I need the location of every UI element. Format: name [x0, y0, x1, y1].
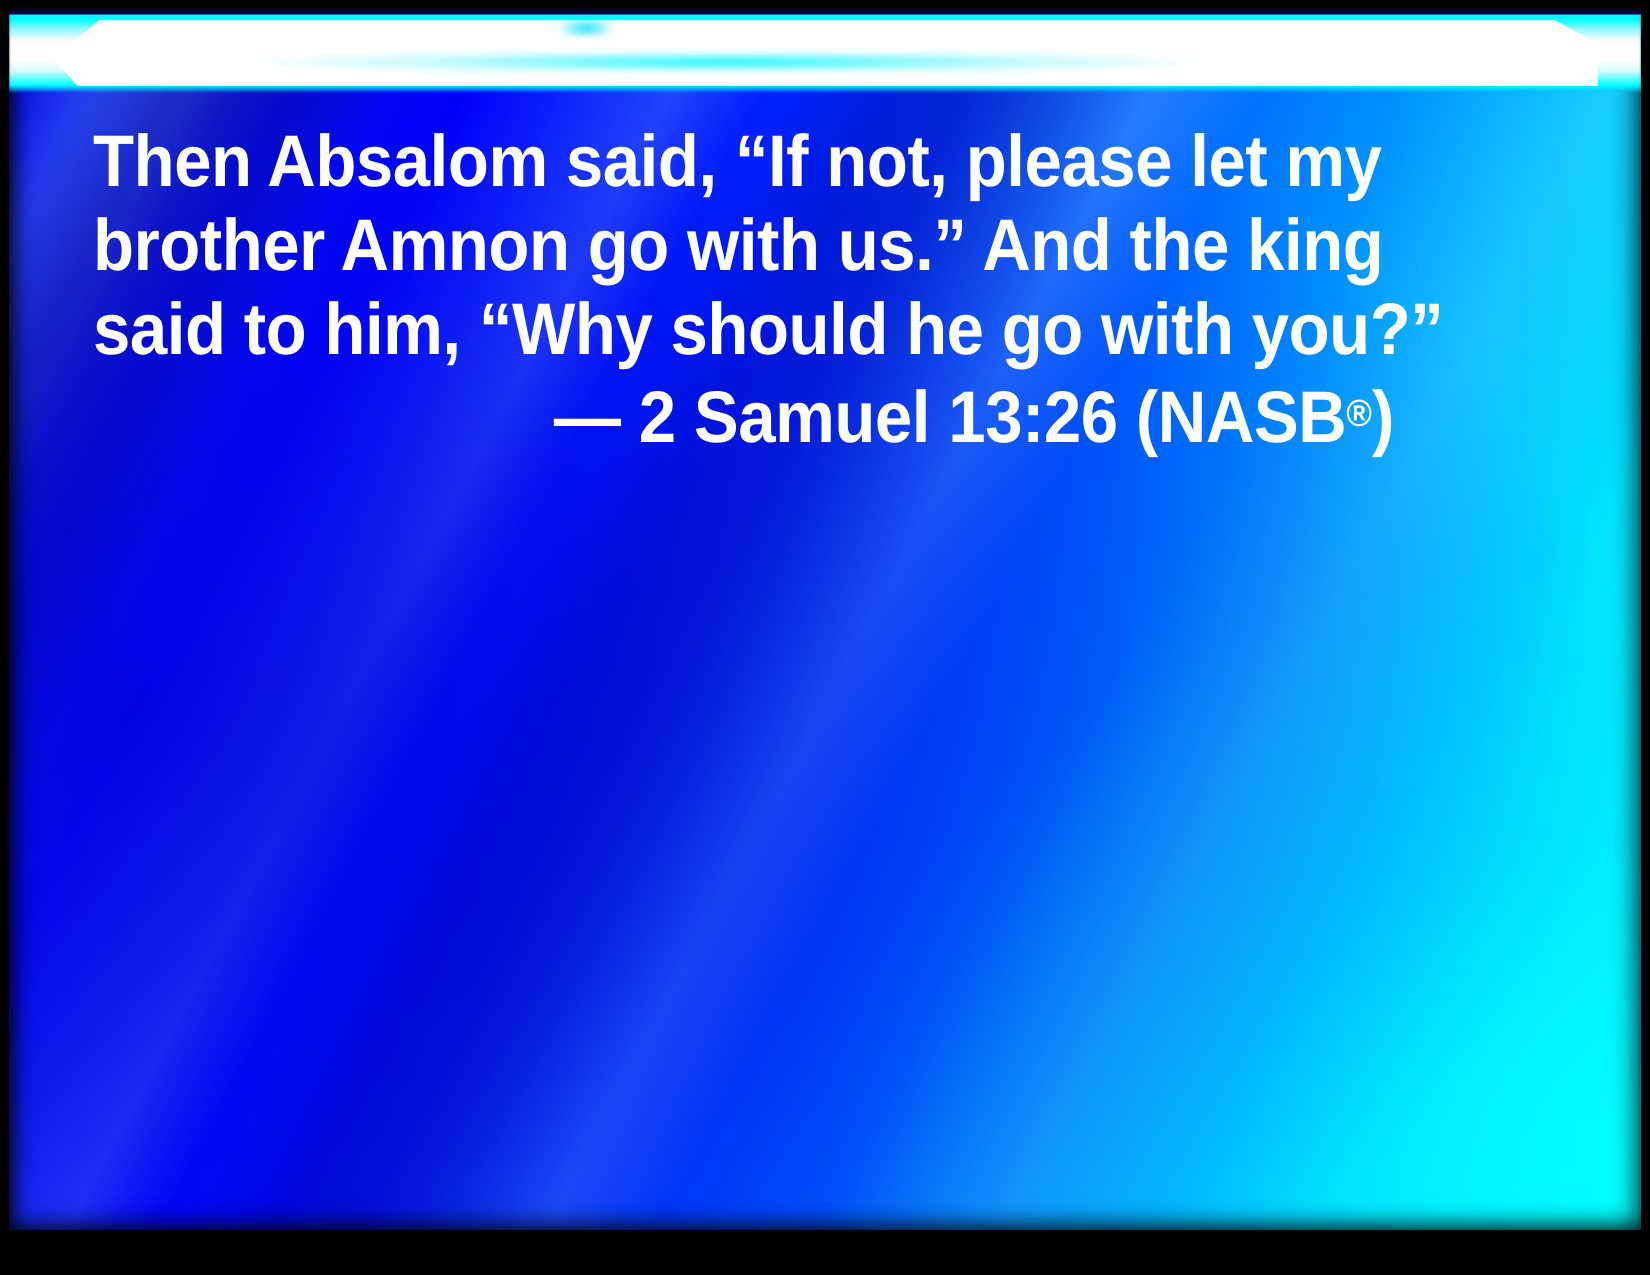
top-banner: [9, 8, 1641, 100]
verse-attribution: — 2 Samuel 13:26 (NASB®): [93, 372, 1399, 460]
verse-line-3: said to him, “Why should he go with you?…: [93, 288, 1399, 372]
banner-cyan-notch: [557, 16, 615, 36]
slide-inner-frame: Then Absalom said, “If not, please let m…: [9, 8, 1641, 1230]
banner-glow: [9, 8, 1641, 92]
banner-white-plate: [53, 20, 1598, 86]
banner-cyan-bloom: [179, 52, 1399, 72]
verse-line-1: Then Absalom said, “If not, please let m…: [93, 120, 1399, 204]
registered-trademark-icon: ®: [1346, 393, 1372, 435]
verse-line-2: brother Amnon go with us.” And the king: [93, 204, 1399, 288]
bible-verse-slide: Then Absalom said, “If not, please let m…: [0, 0, 1650, 1275]
verse-text-block: Then Absalom said, “If not, please let m…: [93, 120, 1399, 460]
banner-top-hairline: [9, 8, 1641, 15]
attribution-reference: — 2 Samuel 13:26 (NASB: [554, 377, 1346, 458]
attribution-closing-paren: ): [1372, 377, 1394, 458]
